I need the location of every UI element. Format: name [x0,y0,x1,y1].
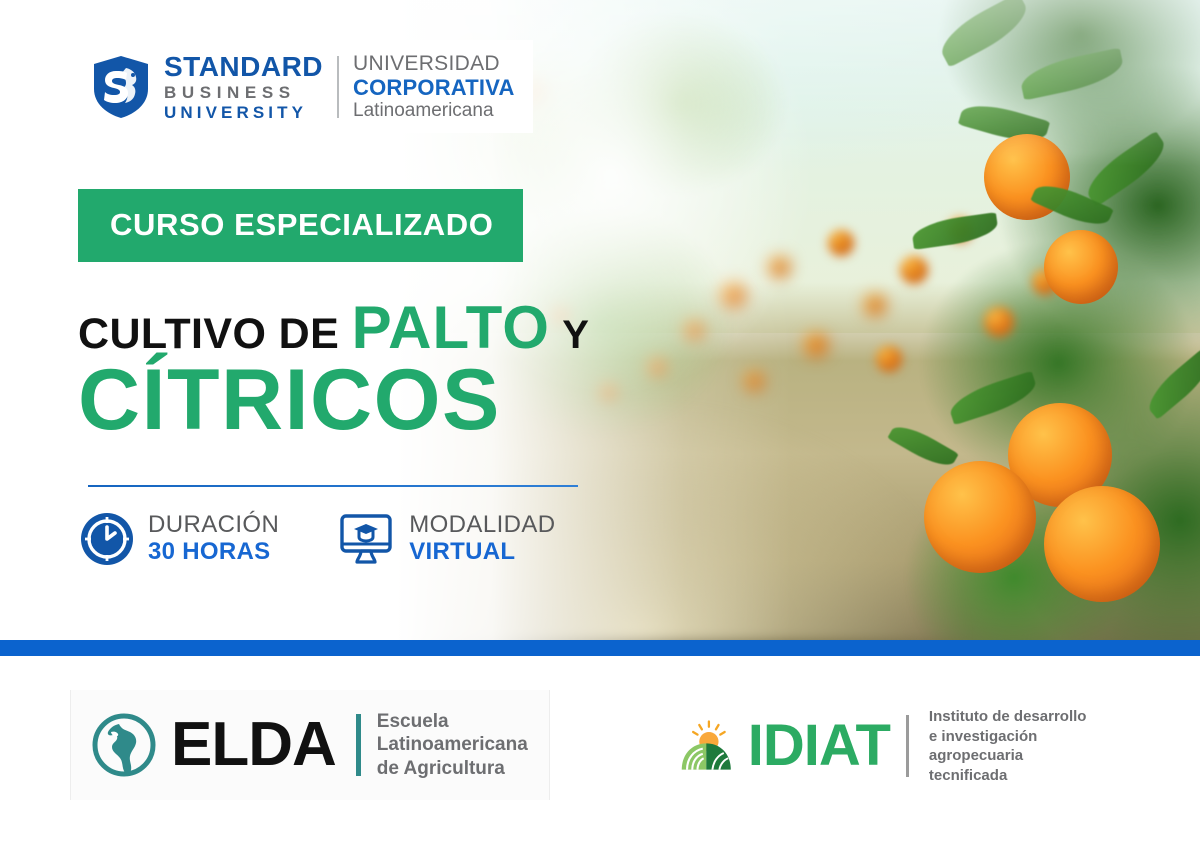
elda-sub-line-2: Latinoamericana [377,733,528,757]
sbu-wordmark: STANDARD BUSINESS UNIVERSITY [164,53,323,121]
idiat-sub-line-2: e investigación agropecuaria [929,727,1110,766]
idiat-subtitle: Instituto de desarrollo e investigación … [929,707,1110,785]
logo-divider [337,56,339,118]
course-title-line-1: CULTIVO DE PALTO Y [78,300,589,356]
idiat-wordmark: IDIAT [748,717,890,775]
meta-item-duracion: DURACIÓN 30 HORAS [80,512,279,566]
hero-section: STANDARD BUSINESS UNIVERSITY UNIVERSIDAD… [0,0,1200,640]
elda-sub-line-1: Escuela [377,710,528,734]
course-type-badge: CURSO ESPECIALIZADO [78,189,523,262]
course-meta-row: DURACIÓN 30 HORAS MODALIDAD VIRTUAL [80,512,556,566]
elda-divider [356,714,361,776]
hero-content: STANDARD BUSINESS UNIVERSITY UNIVERSIDAD… [0,0,1200,640]
course-title: CULTIVO DE PALTO Y CÍTRICOS [78,300,589,441]
sun-field-icon [680,715,738,777]
elda-subtitle: Escuela Latinoamericana de Agricultura [377,710,528,781]
elda-wordmark: ELDA [171,714,336,776]
university-logo: STANDARD BUSINESS UNIVERSITY UNIVERSIDAD… [78,40,533,133]
shield-lion-icon [92,55,150,119]
blue-separator-bar [0,640,1200,656]
globe-americas-icon [89,710,159,780]
idiat-sub-line-1: Instituto de desarrollo [929,707,1110,727]
title-divider-rule [88,485,578,487]
sbu-line-university: UNIVERSITY [164,104,323,121]
meta-text-modalidad: MODALIDAD VIRTUAL [409,512,555,566]
ucl-wordmark: UNIVERSIDAD CORPORATIVA Latinoamericana [353,52,515,121]
elda-logo: ELDA Escuela Latinoamericana de Agricult… [70,690,550,800]
ucl-line-corporativa: CORPORATIVA [353,76,515,101]
sbu-line-standard: STANDARD [164,53,323,81]
course-promo-banner: STANDARD BUSINESS UNIVERSITY UNIVERSIDAD… [0,0,1200,864]
meta-label-duracion: DURACIÓN [148,512,279,539]
meta-value-duracion: 30 HORAS [148,539,279,566]
meta-item-modalidad: MODALIDAD VIRTUAL [337,512,555,566]
title-highlight: PALTO [352,294,550,361]
meta-text-duracion: DURACIÓN 30 HORAS [148,512,279,566]
title-conjunction: Y [562,313,589,357]
idiat-logo: IDIAT Instituto de desarrollo e investig… [680,700,1110,792]
ucl-line-latinoamericana: Latinoamericana [353,100,515,121]
sbu-line-business: BUSINESS [164,84,323,101]
meta-label-modalidad: MODALIDAD [409,512,555,539]
ucl-line-universidad: UNIVERSIDAD [353,52,515,76]
course-title-line-2: CÍTRICOS [78,360,589,441]
clock-icon [80,512,134,566]
title-prefix: CULTIVO DE [78,310,339,358]
meta-value-modalidad: VIRTUAL [409,539,555,566]
idiat-sub-line-3: tecnificada [929,766,1110,786]
monitor-graduation-cap-icon [337,512,395,566]
idiat-divider [906,715,909,777]
elda-sub-line-3: de Agricultura [377,757,528,781]
